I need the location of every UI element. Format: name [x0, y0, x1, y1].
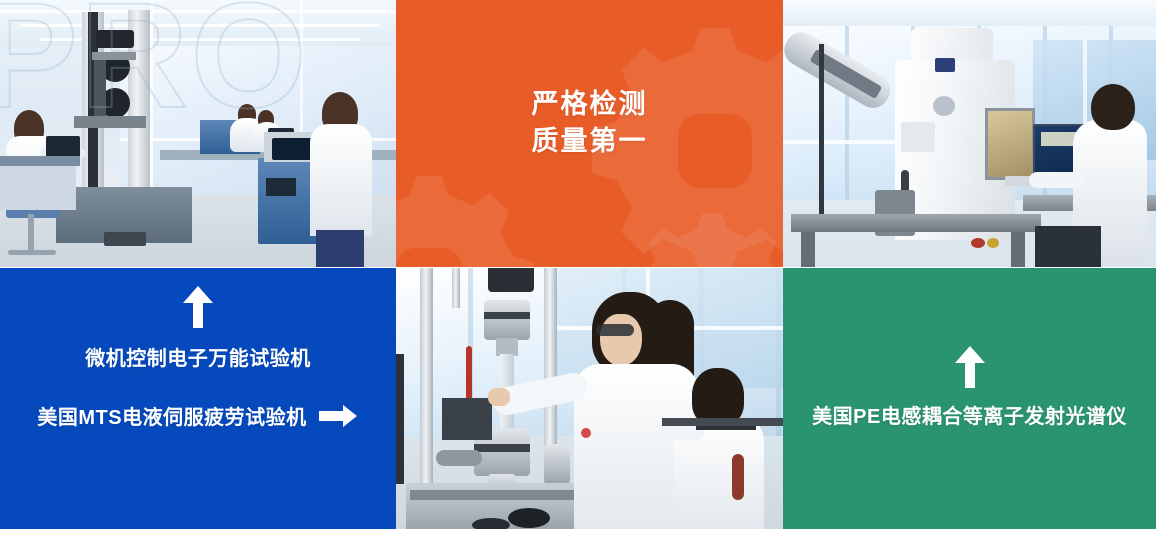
blue-panel-content: 微机控制电子万能试验机 美国MTS电液伺服疲劳试验机 — [0, 284, 396, 430]
arrow-up-icon — [783, 344, 1156, 390]
arrow-right-icon — [317, 403, 359, 429]
universal-testing-machine-photo: PRO — [0, 0, 396, 267]
green-label-line-1: 美国PE电感耦合等离子发射光谱仪 — [783, 400, 1156, 429]
sem-lab-photo-cell[interactable] — [783, 0, 1156, 267]
spectrometer-label-panel-green[interactable]: 美国PE电感耦合等离子发射光谱仪 — [783, 268, 1156, 529]
arrow-up-icon — [0, 284, 396, 330]
fatigue-testing-photo-cell[interactable] — [396, 268, 783, 529]
blue-label-line-1: 微机控制电子万能试验机 — [0, 342, 396, 371]
gear-watermark-secondary-icon — [396, 176, 534, 267]
testing-machine-label-panel-blue[interactable]: 微机控制电子万能试验机 美国MTS电液伺服疲劳试验机 — [0, 268, 396, 529]
slogan-panel-orange[interactable]: 严格检测 质量第一 — [396, 0, 783, 267]
slogan-text-block: 严格检测 质量第一 — [396, 86, 783, 161]
blue-label-line-2: 美国MTS电液伺服疲劳试验机 — [37, 401, 306, 430]
slogan-line-1: 严格检测 — [396, 86, 783, 123]
equipment-showcase-banner: PRO 严格检测 质量第一 — [0, 0, 1166, 537]
fatigue-testing-machine-photo — [396, 268, 783, 529]
gear-watermark-tertiary-icon — [628, 214, 783, 267]
blue-label-row-2: 美国MTS电液伺服疲劳试验机 — [0, 401, 396, 430]
green-panel-content: 美国PE电感耦合等离子发射光谱仪 — [783, 344, 1156, 429]
slogan-line-2: 质量第一 — [396, 123, 783, 160]
universal-testing-machine-photo-cell[interactable]: PRO — [0, 0, 396, 267]
scanning-electron-microscope-photo — [783, 0, 1156, 267]
